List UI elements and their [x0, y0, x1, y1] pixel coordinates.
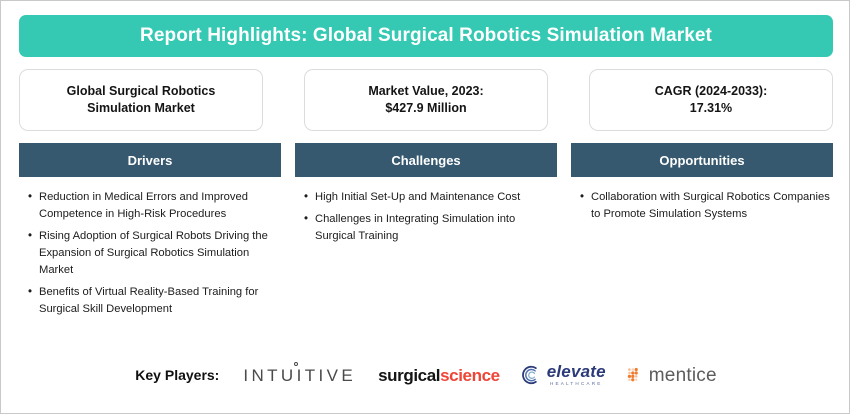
- list-item: Reduction in Medical Errors and Improved…: [28, 189, 281, 223]
- banner-title: Report Highlights: Global Surgical Robot…: [140, 25, 712, 47]
- column-header-opportunities: Opportunities: [571, 143, 833, 177]
- list-item: Collaboration with Surgical Robotics Com…: [580, 189, 833, 223]
- column-header-drivers-label: Drivers: [128, 153, 173, 168]
- report-highlights-banner: Report Highlights: Global Surgical Robot…: [19, 15, 833, 57]
- list-item: Rising Adoption of Surgical Robots Drivi…: [28, 228, 281, 279]
- column-header-drivers: Drivers: [19, 143, 281, 177]
- column-challenges: Challenges High Initial Set-Up and Maint…: [295, 143, 557, 323]
- elevate-wordmark: elevate: [547, 363, 606, 380]
- columns-container: Drivers Reduction in Medical Errors and …: [19, 143, 833, 323]
- surgicalscience-logo-text-science: science: [440, 366, 500, 385]
- surgicalscience-logo: surgicalscience: [378, 367, 500, 384]
- stat-card-market-name-text: Global Surgical Robotics Simulation Mark…: [67, 83, 216, 117]
- opportunities-list: Collaboration with Surgical Robotics Com…: [571, 189, 833, 223]
- elevate-healthcare-logo: elevate HEALTHCARE: [520, 363, 606, 387]
- list-item: High Initial Set-Up and Maintenance Cost: [304, 189, 557, 206]
- mentice-dot-grid-icon: [626, 367, 643, 384]
- mentice-logo: mentice: [626, 366, 717, 385]
- drivers-list: Reduction in Medical Errors and Improved…: [19, 189, 281, 318]
- mentice-wordmark: mentice: [649, 366, 717, 385]
- column-opportunities: Opportunities Collaboration with Surgica…: [571, 143, 833, 323]
- stat-card-row: Global Surgical Robotics Simulation Mark…: [19, 69, 833, 131]
- elevate-swirl-icon: [520, 364, 542, 386]
- column-drivers: Drivers Reduction in Medical Errors and …: [19, 143, 281, 323]
- challenges-list: High Initial Set-Up and Maintenance Cost…: [295, 189, 557, 245]
- stat-card-market-value-text: Market Value, 2023: $427.9 Million: [368, 83, 483, 117]
- key-players-label: Key Players:: [135, 367, 219, 383]
- column-header-challenges-label: Challenges: [391, 153, 460, 168]
- intuitive-logo-dot-icon: [294, 362, 298, 366]
- list-item: Benefits of Virtual Reality-Based Traini…: [28, 284, 281, 318]
- stat-card-cagr: CAGR (2024-2033): 17.31%: [589, 69, 833, 131]
- key-players-row: Key Players: INTUITIVE surgicalscience e…: [19, 353, 833, 397]
- infographic-frame: Report Highlights: Global Surgical Robot…: [0, 0, 850, 414]
- column-header-opportunities-label: Opportunities: [659, 153, 744, 168]
- column-header-challenges: Challenges: [295, 143, 557, 177]
- surgicalscience-logo-text-surgical: surgical: [378, 366, 440, 385]
- list-item: Challenges in Integrating Simulation int…: [304, 211, 557, 245]
- stat-card-market-value: Market Value, 2023: $427.9 Million: [304, 69, 548, 131]
- elevate-subtext: HEALTHCARE: [550, 382, 603, 387]
- intuitive-logo: INTUITIVE: [243, 367, 358, 384]
- intuitive-logo-text: INTUITIVE: [243, 366, 356, 385]
- stat-card-market-name: Global Surgical Robotics Simulation Mark…: [19, 69, 263, 131]
- elevate-wordmark-group: elevate HEALTHCARE: [547, 363, 606, 387]
- stat-card-cagr-text: CAGR (2024-2033): 17.31%: [655, 83, 768, 117]
